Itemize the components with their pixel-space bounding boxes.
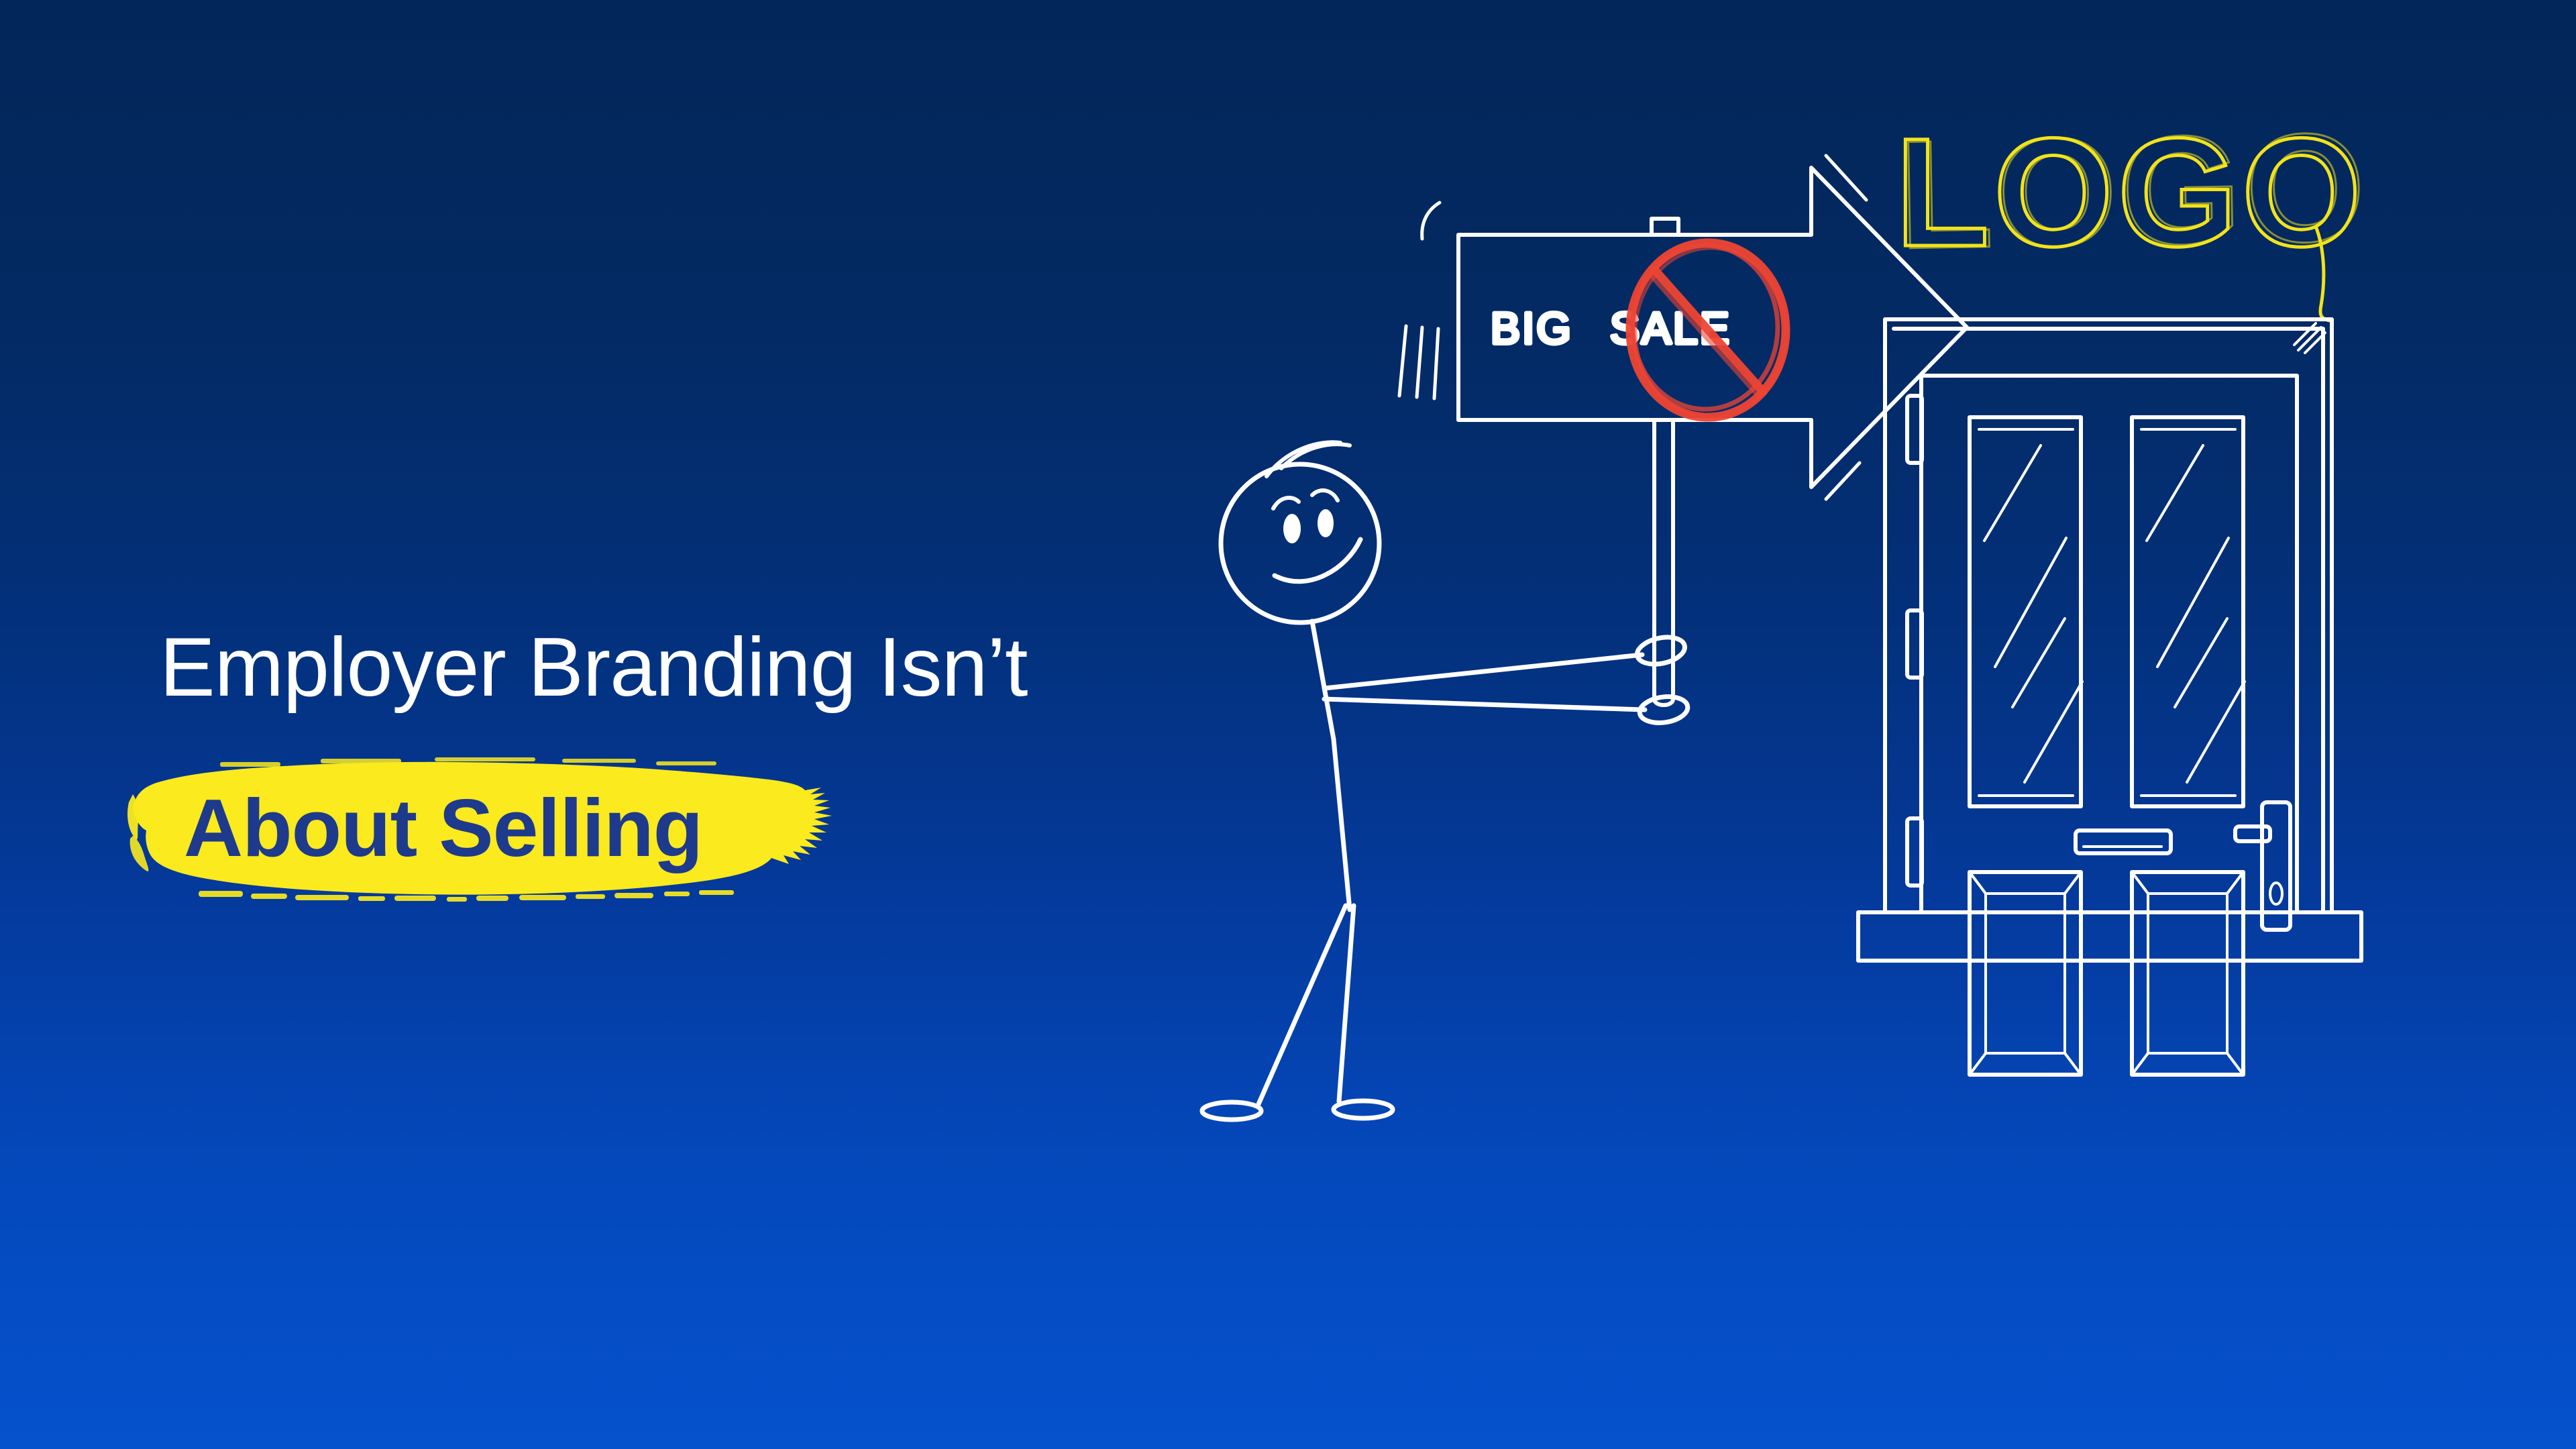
eyebrow-right [1312,490,1338,500]
stick-figure-leg-left [1258,906,1346,1104]
door-glass-panel-left [1970,417,2082,806]
sign-pole [1654,420,1673,593]
stick-figure-arm-lower [1324,699,1645,710]
door-glass-panel-right [2132,417,2245,806]
door-glass-shine-right [2147,445,2245,782]
door-outer-frame [1885,319,2332,912]
stick-figure-foot-left [1202,1102,1261,1120]
sign-top-nub [1652,219,1678,235]
big-sale-signboard[interactable]: BIG SALE [1399,156,1967,705]
headline-line-2: About Selling [184,781,702,875]
stick-figure [1202,442,1689,1120]
illustration-scene: LOGO LOGO [1181,114,2495,1181]
door-threshold-step [1858,912,2361,961]
door-mail-slot [2076,830,2171,853]
stick-figure-arm-upper [1324,655,1642,688]
door-panel-lower-right [2132,872,2243,1075]
door-glass-shine-left [1984,445,2082,782]
stick-figure-hand-upper [1635,633,1687,668]
storefront-logo: LOGO LOGO [1895,114,2371,321]
sign-sketch-mark-top [1826,156,1866,200]
poster-canvas: Employer Branding Isn’t [0,0,2576,1449]
subheadline-highlight: About Selling [160,753,918,907]
eye-right [1318,509,1334,537]
stick-figure-torso-lower [1334,739,1350,910]
storefront-logo-text: LOGO [1895,114,2365,278]
eye-left [1283,514,1301,543]
stick-figure-head [1221,464,1379,623]
sign-pole-lower [1654,593,1673,699]
stick-figure-face [1273,490,1360,582]
storefront-door[interactable] [1858,319,2361,1075]
headline-line-1: Employer Branding Isn’t [160,624,1166,711]
sign-label-big: BIG [1491,303,1573,353]
headline-block: Employer Branding Isn’t [160,624,1166,907]
smile-mouth [1275,539,1360,582]
door-panel-lower-left [1970,872,2081,1075]
eyebrow-left [1273,498,1299,508]
stick-figure-leg-right [1339,906,1354,1102]
stick-figure-foot-right [1334,1101,1393,1118]
sign-motion-lines [1399,203,1440,398]
stick-figure-neck-torso [1312,621,1334,739]
